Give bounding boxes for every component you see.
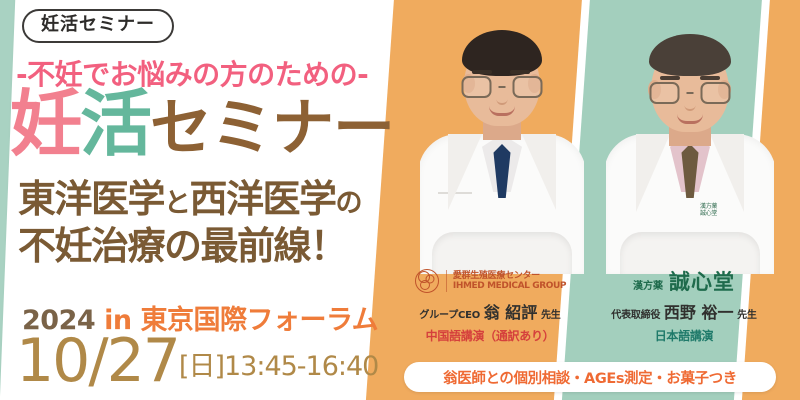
language-tag-left: 中国語講演（通訳あり） bbox=[400, 327, 580, 344]
coat-lapel-right-a bbox=[636, 134, 670, 212]
logo-separator bbox=[446, 270, 447, 292]
speaker-photo-left bbox=[420, 12, 584, 274]
main-title-part2: 活 bbox=[80, 82, 150, 166]
nose-left bbox=[497, 92, 508, 105]
main-title-part1: 妊 bbox=[10, 82, 80, 166]
speaker-name-right: 代表取締役 西野 裕一 先生 bbox=[596, 299, 772, 323]
main-title: 妊活セミナー bbox=[10, 88, 394, 160]
ihmed-logo-text: 愛群生殖医療センター IHMED MEDICAL GROUP bbox=[453, 271, 566, 292]
lens-left-b bbox=[513, 76, 543, 98]
seishindo-name: 誠心堂 bbox=[669, 266, 735, 296]
perks-ribbon: 翁医師との個別相談・AGEs測定・お菓子つき bbox=[404, 362, 776, 392]
ihmed-name-jp: 愛群生殖医療センター bbox=[453, 271, 566, 281]
coat-embroidery-icon: 漢方薬誠心堂 bbox=[700, 204, 717, 217]
speaker-caption-left: 愛群生殖医療センター IHMED MEDICAL GROUP グループCEO 翁… bbox=[400, 266, 580, 344]
main-title-part3: セミナー bbox=[150, 91, 394, 164]
seishindo-logo-icon: 漢方薬 誠心堂 bbox=[596, 266, 772, 296]
glasses-bridge-right bbox=[687, 92, 694, 94]
subtitle-line-2: 不妊治療の最前線！ bbox=[18, 215, 347, 270]
eyebrow-left-b bbox=[510, 70, 530, 74]
ihmed-circles-logo-icon bbox=[414, 268, 440, 294]
seminar-banner: 漢方薬誠心堂 妊活セミナー -不妊でお悩みの方のための- 妊活セミナー 東洋医学… bbox=[0, 0, 800, 400]
coat-lapel-left bbox=[448, 134, 482, 210]
speaker-photo-right: 漢方薬誠心堂 bbox=[606, 18, 774, 274]
coat-lapel-right bbox=[522, 134, 556, 210]
eyebrow-right-b bbox=[700, 76, 720, 80]
speaker-fullname-left: 翁 紹評 bbox=[484, 303, 538, 322]
language-tag-right: 日本語講演 bbox=[596, 327, 772, 344]
ihmed-logo: 愛群生殖医療センター IHMED MEDICAL GROUP bbox=[400, 266, 580, 296]
speaker-role-left: グループCEO bbox=[419, 310, 480, 321]
lens-right-a bbox=[650, 82, 680, 104]
lens-left-a bbox=[462, 76, 492, 98]
speaker-fullname-right: 西野 裕一 bbox=[664, 303, 734, 322]
event-date: 10/27 bbox=[16, 326, 179, 396]
lens-right-b bbox=[701, 82, 731, 104]
glasses-bridge-left bbox=[499, 86, 506, 88]
speaker-name-left: グループCEO 翁 紹評 先生 bbox=[400, 299, 580, 323]
eyebrow-right-a bbox=[660, 76, 680, 80]
seishindo-prefix: 漢方薬 bbox=[633, 277, 663, 292]
coat-lapel-right-b bbox=[710, 134, 744, 212]
event-datetime: 10/27[日]13:45-16:40 bbox=[16, 326, 378, 396]
speaker-honorific-right: 先生 bbox=[737, 310, 757, 321]
nose-right bbox=[685, 98, 696, 111]
speaker-role-right: 代表取締役 bbox=[611, 310, 660, 321]
event-weekday-time: [日]13:45-16:40 bbox=[179, 351, 378, 382]
ihmed-name-en: IHMED MEDICAL GROUP bbox=[453, 281, 566, 291]
eyebrow-left-a bbox=[472, 70, 492, 74]
seminar-badge: 妊活セミナー bbox=[22, 9, 174, 43]
speaker-caption-right: 漢方薬 誠心堂 代表取締役 西野 裕一 先生 日本語講演 bbox=[596, 266, 772, 344]
speaker-honorific-left: 先生 bbox=[541, 310, 561, 321]
hair-right bbox=[649, 34, 731, 76]
